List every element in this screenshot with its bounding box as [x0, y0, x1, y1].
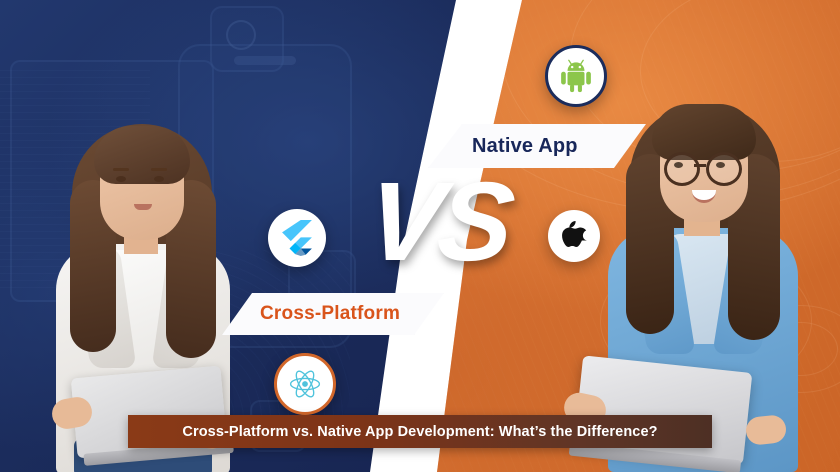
apple-logo-icon: [548, 210, 600, 262]
hair-fringe: [94, 126, 190, 184]
eye-left: [116, 176, 126, 182]
cross-platform-label-ribbon: Cross-Platform: [222, 293, 482, 335]
hair-fringe: [652, 104, 756, 160]
eyebrow-right: [151, 168, 167, 171]
article-title: Cross-Platform vs. Native App Developmen…: [182, 424, 657, 440]
hero-banner-image: Native App Cross-Platform VS: [0, 0, 840, 472]
article-title-bar: Cross-Platform vs. Native App Developmen…: [128, 415, 712, 448]
react-logo-icon: [274, 353, 336, 415]
eyebrow-left: [113, 168, 129, 171]
eyeglasses-lens-right: [706, 152, 742, 186]
native-app-label: Native App: [472, 135, 578, 158]
cross-platform-label: Cross-Platform: [260, 303, 400, 325]
vs-label: VS: [362, 166, 515, 278]
eyeglasses-lens-left: [664, 152, 700, 186]
camera-lens-icon: [226, 20, 256, 50]
flutter-logo-icon: [268, 209, 326, 267]
android-logo-icon: [545, 45, 607, 107]
eyeglasses-bridge: [694, 164, 706, 167]
eye-right: [154, 176, 164, 182]
